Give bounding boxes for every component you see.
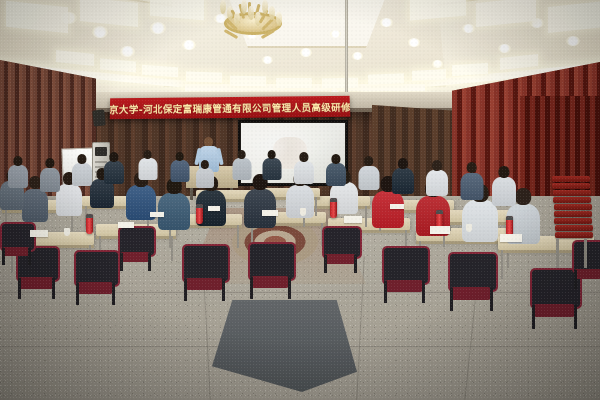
stacked-chair-seat <box>553 197 591 203</box>
attendee <box>460 162 483 200</box>
chair-seat <box>251 276 290 288</box>
chair-leg <box>120 253 123 271</box>
seminar-photograph: 北京大学-河北保定富瑞康管通有限公司管理人员高级研修班 <box>0 0 600 400</box>
chair-back <box>448 252 498 292</box>
handout-paper <box>500 234 522 242</box>
thermos-cap <box>196 204 203 208</box>
attendee-head <box>237 150 246 159</box>
thermos-cap <box>436 210 443 214</box>
attendee-head <box>201 160 209 169</box>
attendee-head <box>398 158 408 169</box>
table-leg <box>171 236 173 261</box>
downlight <box>432 60 443 68</box>
attendee <box>158 178 190 230</box>
attendee <box>326 154 346 186</box>
attendee <box>244 174 276 228</box>
attendee-torso <box>72 163 92 186</box>
attendee-head <box>109 152 118 162</box>
chair <box>118 226 152 270</box>
attendee-head <box>143 150 152 159</box>
attendee-head <box>267 150 276 159</box>
chair-leg <box>28 248 31 265</box>
attendee-head <box>45 158 54 168</box>
stacked-chair-seat <box>555 225 593 231</box>
thermos-flask <box>330 198 337 218</box>
chair-leg <box>574 305 577 329</box>
chair <box>182 244 226 300</box>
chandelier-crystal <box>276 12 282 26</box>
chandelier-crystal <box>262 0 268 14</box>
table-leg <box>315 197 317 216</box>
handout-paper <box>262 210 278 216</box>
ceiling-light-panel <box>276 78 312 88</box>
ceiling-light-panel <box>186 71 222 82</box>
handout-paper <box>30 230 48 237</box>
chair-leg <box>384 281 387 303</box>
attendee-head <box>175 152 184 161</box>
attendee-torso <box>358 166 379 190</box>
chair-back <box>382 246 430 285</box>
downlight <box>408 38 420 47</box>
chandelier-crystal <box>220 0 226 14</box>
stacked-chair-seat <box>552 176 590 182</box>
attendee <box>262 150 281 180</box>
attendee-torso <box>460 173 483 200</box>
chair-leg <box>184 279 187 301</box>
downlight <box>330 30 341 38</box>
attendee-torso <box>22 189 48 222</box>
attendee-head <box>466 162 477 173</box>
handout-paper <box>344 216 362 223</box>
attendee-head <box>77 154 86 164</box>
attendee <box>170 152 189 182</box>
attendee-head <box>13 156 22 166</box>
attendee-torso <box>104 161 124 184</box>
chair-leg <box>2 248 5 265</box>
chair-leg <box>574 270 577 289</box>
downlight <box>566 36 580 46</box>
chair <box>448 252 494 310</box>
chandelier-crystal <box>234 12 240 26</box>
attendee <box>72 154 92 186</box>
chandelier-crystal <box>248 6 254 20</box>
attendee-torso <box>392 168 414 194</box>
thermos-cap <box>330 198 337 202</box>
attendee-head <box>331 154 340 164</box>
attendee-torso <box>326 163 346 186</box>
attendee <box>294 152 314 184</box>
ceiling-light-panel <box>548 1 600 33</box>
chair-seat <box>324 254 356 264</box>
front-table-leg <box>190 188 193 200</box>
downlight <box>92 26 108 38</box>
attendee-torso <box>232 158 251 180</box>
ceiling-light-panel <box>230 76 266 87</box>
chair <box>0 222 32 264</box>
attendee-torso <box>462 200 498 242</box>
chair-leg <box>324 255 327 273</box>
chair-leg <box>112 283 115 305</box>
stacked-chair-seat <box>554 204 592 210</box>
attendee-torso <box>244 189 276 228</box>
downlight <box>262 56 273 64</box>
attendee <box>426 160 448 196</box>
ceiling-light-panel <box>322 78 358 89</box>
attendee-torso <box>426 170 448 196</box>
chair-leg <box>250 277 253 299</box>
stacked-chair-leg <box>584 238 587 268</box>
chandelier-crystal <box>241 0 247 14</box>
chair-seat <box>533 304 575 317</box>
stacked-chair-seat <box>555 232 593 238</box>
handout-paper <box>208 206 220 211</box>
downlight <box>182 40 196 50</box>
downlight <box>352 52 363 60</box>
chair-back <box>248 242 296 281</box>
thermos-cap <box>506 216 513 220</box>
thermos-cap <box>86 214 93 218</box>
stacked-chair-seat <box>553 190 591 196</box>
chair <box>322 226 358 272</box>
ceiling-light-panel <box>368 73 404 84</box>
chair-seat <box>120 252 150 262</box>
attendee-torso <box>196 168 214 188</box>
stacked-chair-seat <box>552 183 590 189</box>
stacked-chair-leg <box>556 238 559 268</box>
attendee <box>492 166 516 206</box>
chair-seat <box>2 247 30 256</box>
chair-leg <box>422 281 425 303</box>
attendee <box>358 156 379 190</box>
attendee-head <box>299 152 308 162</box>
handout-paper <box>390 204 404 209</box>
chair <box>530 268 578 328</box>
chair-leg <box>18 278 21 299</box>
event-banner: 北京大学-河北保定富瑞康管通有限公司管理人员高级研修班 <box>110 96 351 119</box>
downlight <box>120 46 135 57</box>
attendee-torso <box>262 158 281 180</box>
thermos-flask <box>196 204 203 224</box>
table-leg <box>237 225 239 248</box>
chair-leg <box>52 278 55 299</box>
chair-leg <box>222 279 225 301</box>
stacked-chair-seat <box>554 218 592 224</box>
handout-paper <box>118 222 134 228</box>
chair-seat <box>385 280 424 292</box>
paper-cup <box>300 208 306 216</box>
table-leg <box>501 250 503 279</box>
handout-paper <box>150 212 164 217</box>
stacked-chair-seat <box>554 211 592 217</box>
chair-leg <box>354 255 357 273</box>
chair-seat <box>18 277 53 288</box>
paper-cup <box>466 224 472 232</box>
attendee <box>196 160 214 188</box>
chair-seat <box>574 269 600 280</box>
chandelier-crystal <box>269 6 275 20</box>
chair <box>74 250 116 304</box>
attendee <box>138 150 157 180</box>
chair-leg <box>490 288 493 311</box>
attendee-torso <box>170 160 189 182</box>
chandelier <box>212 0 288 46</box>
attendee-torso <box>40 168 60 192</box>
attendee-head <box>515 188 531 205</box>
attendee <box>8 156 28 188</box>
chair-seat <box>77 282 114 294</box>
ceiling-light-panel <box>412 69 446 81</box>
projector-pole <box>345 0 348 96</box>
paper-cup <box>64 228 70 236</box>
chair-leg <box>450 288 453 311</box>
chair-leg <box>148 253 151 271</box>
thermos-flask <box>506 216 513 236</box>
attendee-head <box>432 160 442 171</box>
thermos-flask <box>86 214 93 234</box>
chair-seat <box>185 278 224 290</box>
stacked-chairs <box>552 176 592 268</box>
downlight <box>300 48 312 57</box>
attendee <box>104 152 124 184</box>
table-leg <box>365 206 367 227</box>
attendee-head <box>364 156 374 166</box>
chair-seat <box>451 287 491 300</box>
chair-leg <box>76 283 79 305</box>
attendee-head <box>498 166 509 178</box>
attendee-torso <box>294 161 314 184</box>
handout-paper <box>430 226 450 234</box>
attendee-torso <box>372 191 404 228</box>
attendee <box>232 150 251 180</box>
chair <box>248 242 292 298</box>
attendee <box>40 158 60 192</box>
chair <box>382 246 426 302</box>
attendee-torso <box>8 165 28 188</box>
attendee-torso <box>492 177 516 206</box>
loudspeaker <box>92 109 106 126</box>
chair-leg <box>532 305 535 329</box>
downlight <box>150 22 166 34</box>
event-banner-text: 北京大学-河北保定富瑞康管通有限公司管理人员高级研修班 <box>110 99 351 116</box>
attendee-torso <box>138 158 157 180</box>
attendee <box>392 158 414 194</box>
chair-leg <box>288 277 291 299</box>
chair-back <box>182 244 230 283</box>
